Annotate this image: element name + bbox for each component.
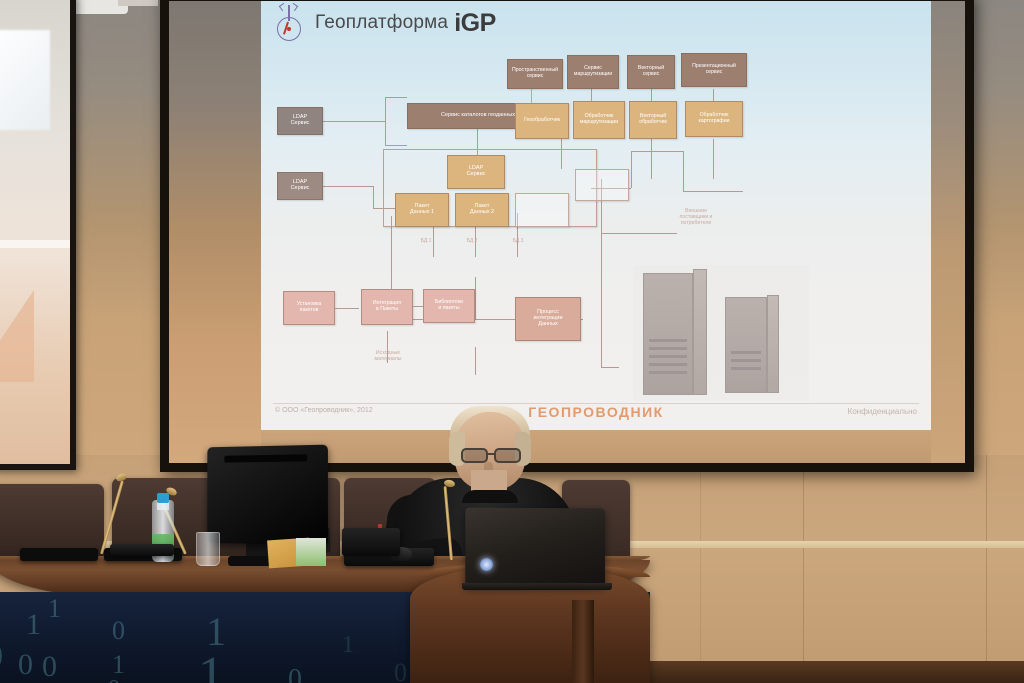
diagram-box-vector: Векторный сервис [627, 55, 675, 89]
annotation-db1: БД 1 [413, 239, 439, 245]
diagram-box-vectproc: Векторный обработчик [629, 101, 677, 139]
diagram-box-routeproc: Обработчик маршрутизации [573, 101, 625, 139]
annotation-external: Внешние поставщики и потребители [657, 209, 735, 227]
footer-brand: ГЕОПРОВОДНИК [528, 404, 663, 420]
slide-title-main: Геоплатформа [315, 12, 448, 34]
diagram-box-cartoproc: Обработчик картографии [685, 101, 743, 137]
screen-left-margin [169, 1, 261, 463]
slide-footer: © ООО «Геопроводник», 2012 ГЕОПРОВОДНИК … [261, 403, 931, 425]
screen-right-margin [931, 1, 965, 463]
annotation-db3: БД 3 [505, 239, 531, 245]
desktop-monitor[interactable] [207, 445, 328, 546]
diagram-box-ldap3: LDAP Сервис [447, 155, 505, 189]
screen-shape [0, 290, 34, 382]
screen-band [0, 240, 70, 248]
microphone-base-1[interactable] [20, 548, 98, 561]
ceiling-fixture-2 [118, 0, 158, 6]
server-racks-photo [633, 265, 809, 401]
diagram-box-pack1: Пакет Данных 1 [395, 193, 449, 227]
slide-title-accent: iGP [454, 9, 496, 38]
conference-room-scene: Геоплатформа iGP [0, 0, 1024, 683]
diagram-box-install: Установка пакетов [283, 291, 335, 325]
annotation-source: Исходные материалы [357, 351, 419, 363]
collar [462, 490, 518, 503]
compass-antenna-icon [275, 3, 309, 43]
cable-tray [110, 544, 174, 556]
diagram-box-ldap2: LDAP Сервис [277, 172, 323, 200]
laptop[interactable] [465, 508, 605, 587]
laptop-logo [480, 558, 493, 571]
diagram-box-pack3 [515, 193, 569, 227]
diagram-box-hub [575, 169, 629, 201]
glasses-bridge [488, 453, 494, 455]
main-projection-screen: Геоплатформа iGP [160, 0, 974, 472]
black-device[interactable] [342, 528, 400, 556]
diagram-box-libs: Библиотеки и пакеты [423, 289, 475, 323]
annotation-db2: БД 2 [459, 239, 485, 245]
diagram-box-spatial: Пространственный сервис [507, 59, 563, 89]
green-package[interactable] [296, 538, 326, 566]
screen-bottom-margin [261, 430, 931, 463]
footer-copyright: © ООО «Геопроводник», 2012 [275, 407, 373, 414]
laptop-base [462, 583, 612, 590]
monitor-vent [224, 454, 307, 462]
table-leg [572, 600, 594, 683]
bottle-cap[interactable] [157, 493, 169, 503]
diagram-box-routing: Сервис маршрутизации [567, 55, 619, 89]
window-reflection [0, 30, 50, 130]
footer-confidential: Конфиденциально [848, 407, 917, 416]
plastic-cup[interactable] [196, 532, 220, 566]
diagram-box-integrate: Интеграция в Пакеты [361, 289, 413, 325]
glasses-left-lens [461, 448, 488, 463]
bottle-neck [157, 502, 169, 510]
secondary-projection-screen [0, 0, 76, 470]
diagram-box-present: Презентационный сервис [681, 53, 747, 87]
diagram-box-geoproc: Геообработчик [515, 103, 569, 139]
glasses-right-lens [494, 448, 521, 463]
presentation-slide: Геоплатформа iGP [261, 1, 931, 430]
diagram-box-ldap1: LDAP Сервис [277, 107, 323, 135]
slide-title: Геоплатформа iGP [275, 3, 496, 43]
diagram-box-dataproc: Процесс интеграции Данных [515, 297, 581, 341]
diagram-box-pack2: Пакет Данных 2 [455, 193, 509, 227]
